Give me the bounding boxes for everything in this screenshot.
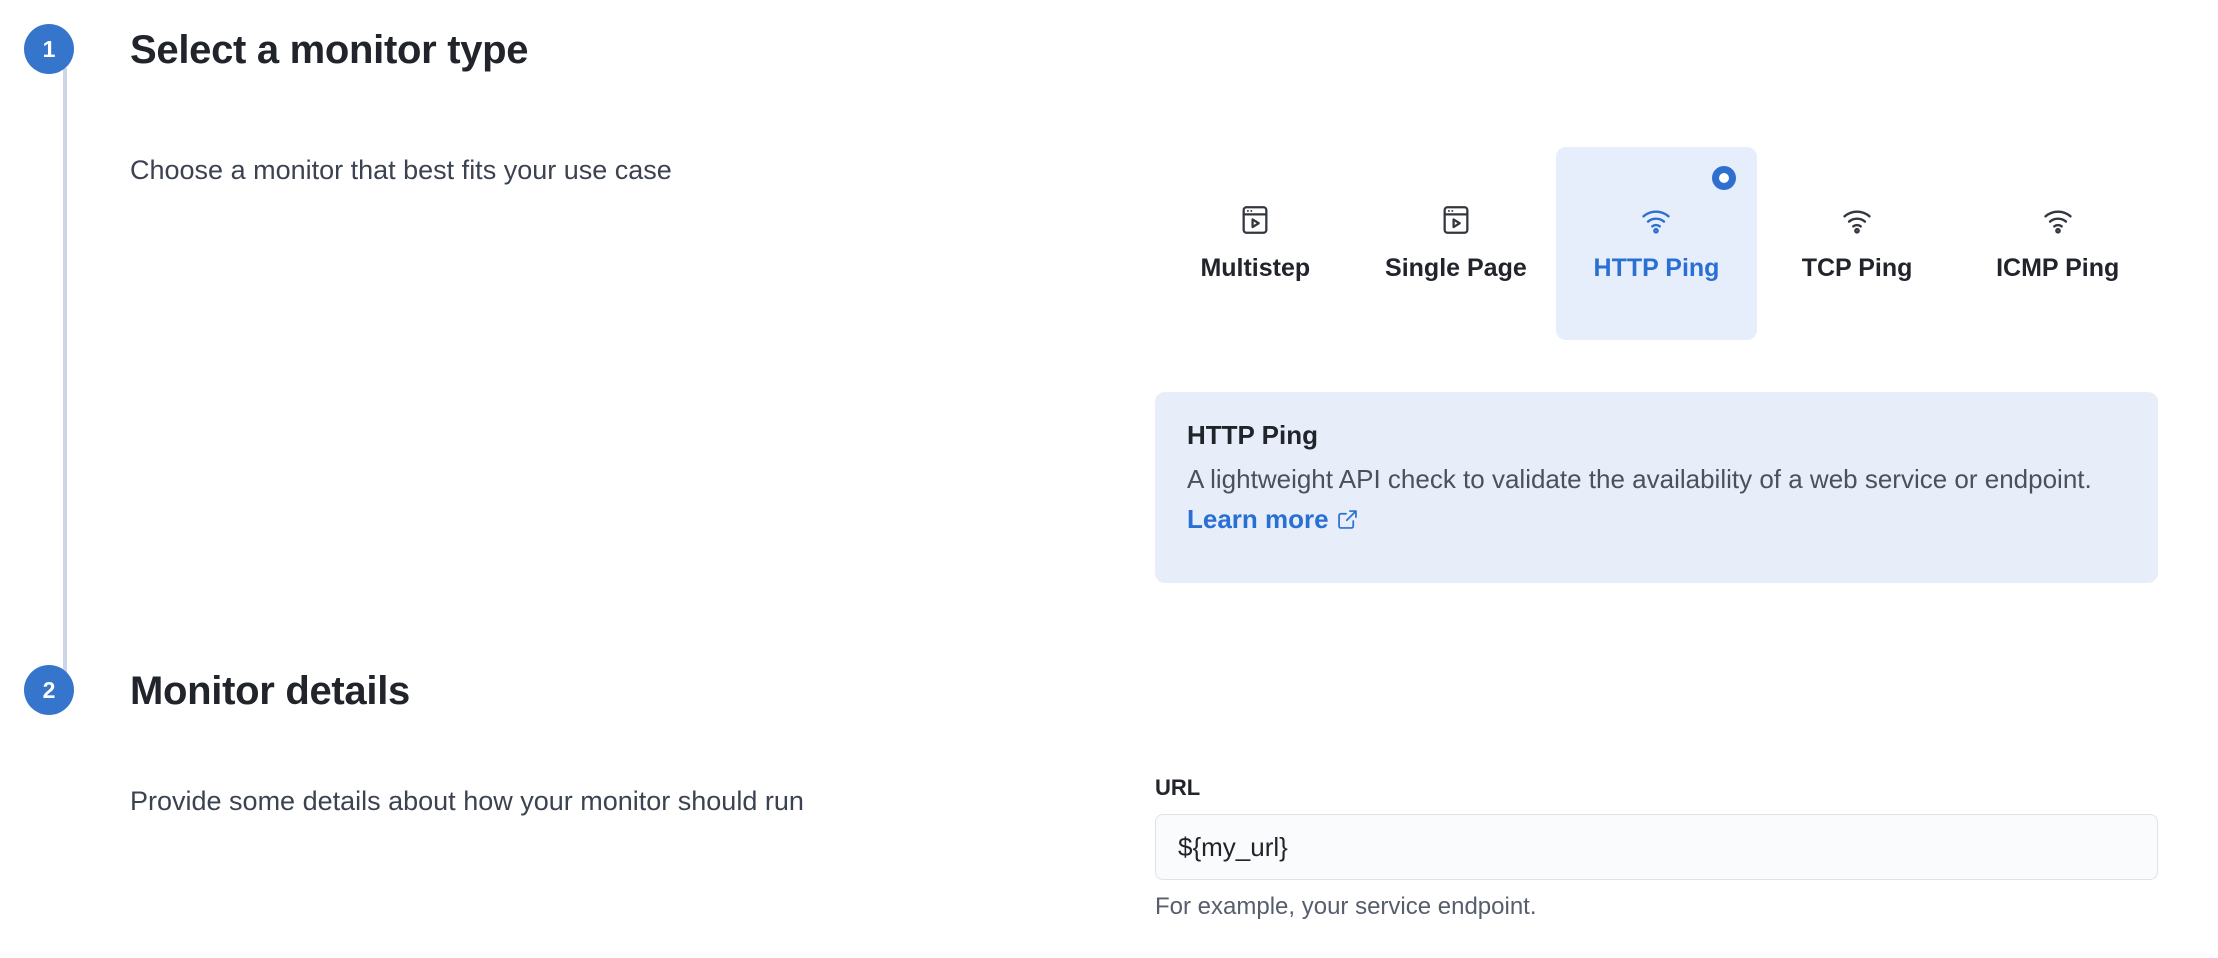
monitor-type-label: HTTP Ping	[1594, 254, 1720, 283]
monitor-type-info-panel: HTTP Ping A lightweight API check to val…	[1155, 392, 2158, 583]
url-field-help-text: For example, your service endpoint.	[1155, 893, 2158, 921]
wifi-ping-icon	[2040, 202, 2076, 238]
info-panel-title: HTTP Ping	[1187, 420, 2126, 451]
radio-selected-icon	[1712, 166, 1736, 190]
step-1-title: Select a monitor type	[130, 28, 528, 73]
monitor-type-selector: Multistep Single Page	[1155, 147, 2158, 340]
url-field-label: URL	[1155, 775, 2158, 801]
monitor-type-option-tcp-ping[interactable]: TCP Ping	[1757, 147, 1958, 340]
step-2-badge: 2	[24, 665, 74, 715]
monitor-type-option-single-page[interactable]: Single Page	[1356, 147, 1557, 340]
monitor-type-label: Single Page	[1385, 254, 1527, 283]
info-panel-description: A lightweight API check to validate the …	[1187, 464, 2092, 494]
learn-more-link[interactable]: Learn more	[1187, 504, 1329, 534]
step-1-subtitle: Choose a monitor that best fits your use…	[130, 155, 672, 186]
step-2-number: 2	[43, 679, 56, 702]
external-link-icon[interactable]	[1336, 508, 1359, 531]
monitor-setup-page: 1 Select a monitor type Choose a monitor…	[0, 0, 2218, 958]
monitor-type-label: TCP Ping	[1802, 254, 1913, 283]
step-1-badge: 1	[24, 24, 74, 74]
info-panel-description-block: A lightweight API check to validate the …	[1187, 459, 2117, 539]
browser-play-icon	[1438, 202, 1474, 238]
monitor-type-option-icmp-ping[interactable]: ICMP Ping	[1957, 147, 2158, 340]
browser-play-icon	[1237, 202, 1273, 238]
url-field-block: URL For example, your service endpoint.	[1155, 775, 2158, 921]
step-2-title: Monitor details	[130, 669, 410, 714]
step-2-subtitle: Provide some details about how your moni…	[130, 786, 804, 817]
wifi-ping-icon	[1638, 202, 1674, 238]
stepper-connector-line	[63, 68, 67, 680]
monitor-type-option-http-ping[interactable]: HTTP Ping	[1556, 147, 1757, 340]
step-1-number: 1	[43, 38, 56, 61]
monitor-type-option-multistep[interactable]: Multistep	[1155, 147, 1356, 340]
url-input[interactable]	[1155, 814, 2158, 880]
wifi-ping-icon	[1839, 202, 1875, 238]
monitor-type-label: Multistep	[1200, 254, 1310, 283]
monitor-type-label: ICMP Ping	[1996, 254, 2119, 283]
